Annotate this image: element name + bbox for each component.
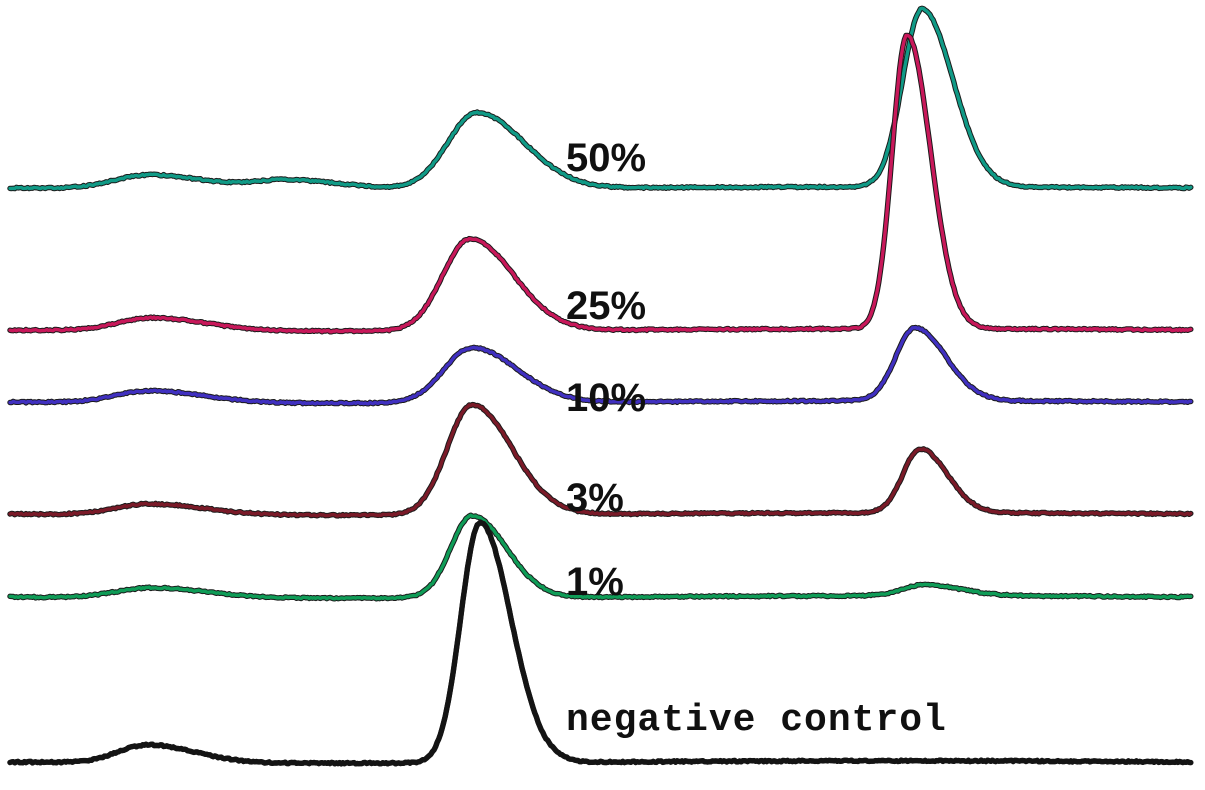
trace-label-1-percent: 1% xyxy=(566,562,624,602)
trace-label-3-percent: 3% xyxy=(566,478,624,518)
trace-label-negative-control: negative control xyxy=(566,702,947,740)
trace-label-10-percent: 10% xyxy=(566,378,646,418)
trace-label-50-percent: 50% xyxy=(566,138,646,178)
trace-label-25-percent: 25% xyxy=(566,286,646,326)
figure-canvas: 50% 25% 10% 3% 1% negative control xyxy=(0,0,1205,790)
